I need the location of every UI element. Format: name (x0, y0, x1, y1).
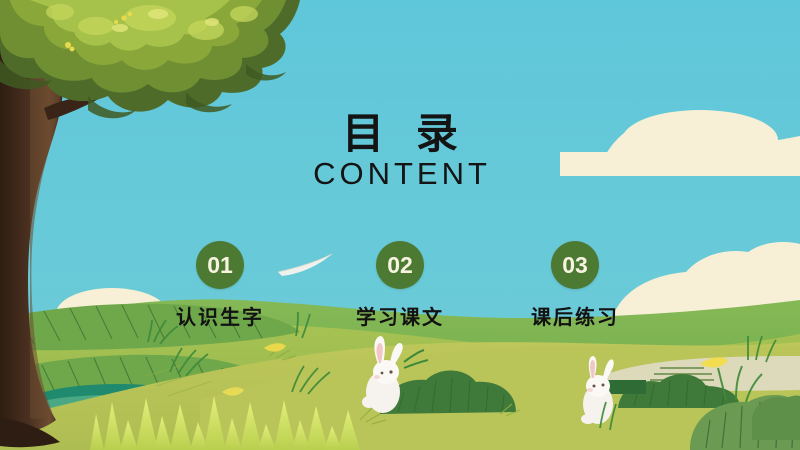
agenda-label-1: 认识生字 (140, 301, 300, 330)
agenda-item-3[interactable]: 03 课后练习 (495, 241, 655, 330)
agenda-number-badge-3[interactable]: 03 (551, 241, 599, 289)
slide-canvas: 目 录 CONTENT 01 认识生字 02 学习课文 03 课后练习 (0, 0, 800, 450)
agenda-number-badge-2[interactable]: 02 (376, 241, 424, 289)
agenda-number-1: 01 (207, 254, 233, 277)
background-illustration (0, 0, 800, 450)
agenda-number-badge-1[interactable]: 01 (196, 241, 244, 289)
agenda-label-3: 课后练习 (495, 301, 655, 330)
agenda-item-1[interactable]: 01 认识生字 (140, 241, 300, 330)
agenda-label-2: 学习课文 (320, 301, 480, 330)
agenda-item-2[interactable]: 02 学习课文 (320, 241, 480, 330)
agenda-list: 01 认识生字 02 学习课文 03 课后练习 (0, 241, 800, 341)
agenda-number-2: 02 (387, 254, 413, 277)
agenda-number-3: 03 (562, 254, 588, 277)
